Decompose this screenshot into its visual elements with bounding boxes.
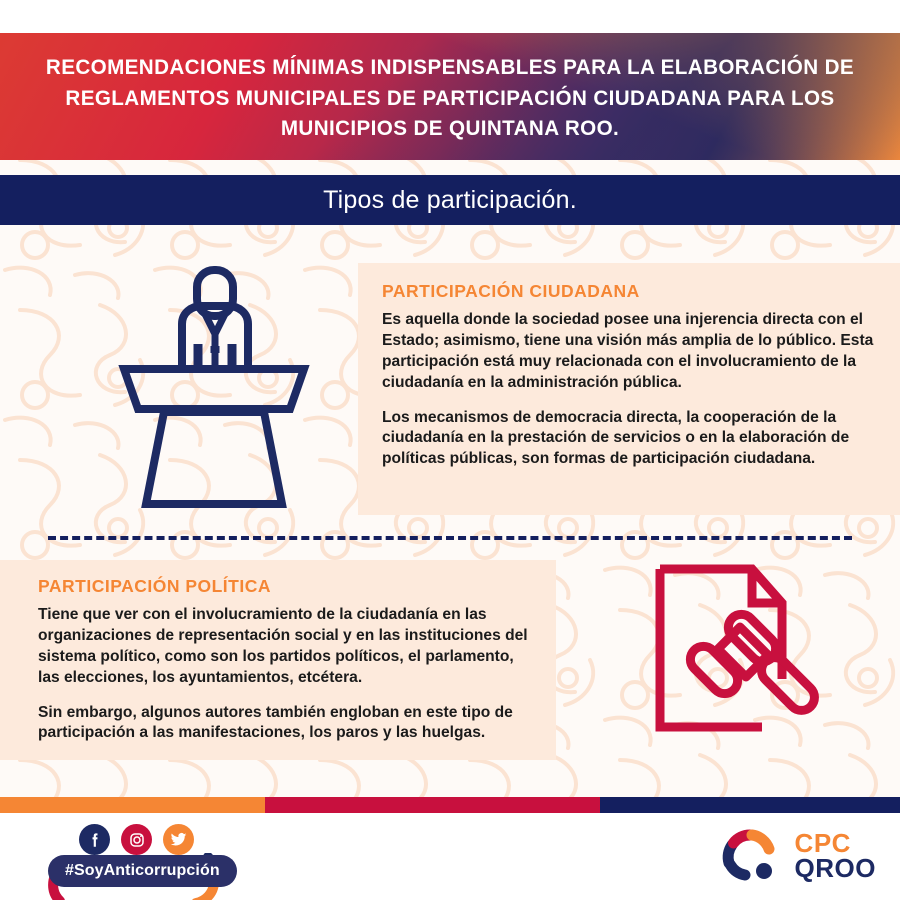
hashtag-badge[interactable]: #SoyAnticorrupción	[48, 855, 237, 887]
infographic-poster: RECOMENDACIONES MÍNIMAS INDISPENSABLES P…	[0, 0, 900, 900]
cpc-logo-mark	[719, 827, 781, 885]
card-participacion-politica: PARTICIPACIÓN POLÍTICA Tiene que ver con…	[0, 560, 556, 760]
twitter-icon[interactable]	[163, 824, 194, 855]
hashtag-text: #SoyAnticorrupción	[65, 862, 220, 880]
stripe-segment-orange	[0, 797, 265, 813]
page-title: RECOMENDACIONES MÍNIMAS INDISPENSABLES P…	[18, 33, 882, 144]
section-divider	[48, 536, 852, 540]
footer-color-stripe	[0, 797, 900, 813]
podium-speaker-icon	[118, 262, 310, 510]
card-paragraph: Es aquella donde la sociedad posee una i…	[382, 310, 876, 394]
social-links[interactable]	[79, 824, 194, 855]
card-paragraph: Los mecanismos de democracia directa, la…	[382, 408, 876, 471]
subtitle-text: Tipos de participación.	[323, 186, 577, 215]
stripe-segment-navy	[600, 797, 900, 813]
twitter-glyph	[169, 830, 188, 849]
card-participacion-ciudadana: PARTICIPACIÓN CIUDADANA Es aquella donde…	[358, 263, 900, 515]
document-gavel-icon	[640, 563, 826, 759]
top-white-margin	[0, 0, 900, 33]
stripe-segment-crimson	[265, 797, 601, 813]
facebook-icon[interactable]	[79, 824, 110, 855]
cpc-qroo-logo: CPC QROO	[719, 827, 876, 885]
logo-dot	[756, 863, 772, 879]
footer: #SoyAnticorrupción CPC QROO	[0, 813, 900, 900]
subtitle-banner: Tipos de participación.	[0, 175, 900, 225]
card-paragraph: Tiene que ver con el involucramiento de …	[38, 605, 534, 689]
card-heading-politica: PARTICIPACIÓN POLÍTICA	[38, 576, 534, 597]
card-heading-ciudadana: PARTICIPACIÓN CIUDADANA	[382, 281, 876, 302]
header-banner: RECOMENDACIONES MÍNIMAS INDISPENSABLES P…	[0, 33, 900, 160]
card-paragraph: Sin embargo, algunos autores también eng…	[38, 703, 534, 745]
instagram-glyph	[128, 831, 146, 849]
instagram-icon[interactable]	[121, 824, 152, 855]
brand-qroo-text: QROO	[795, 856, 876, 881]
brand-wordmark: CPC QROO	[795, 831, 876, 882]
facebook-glyph	[86, 831, 104, 849]
